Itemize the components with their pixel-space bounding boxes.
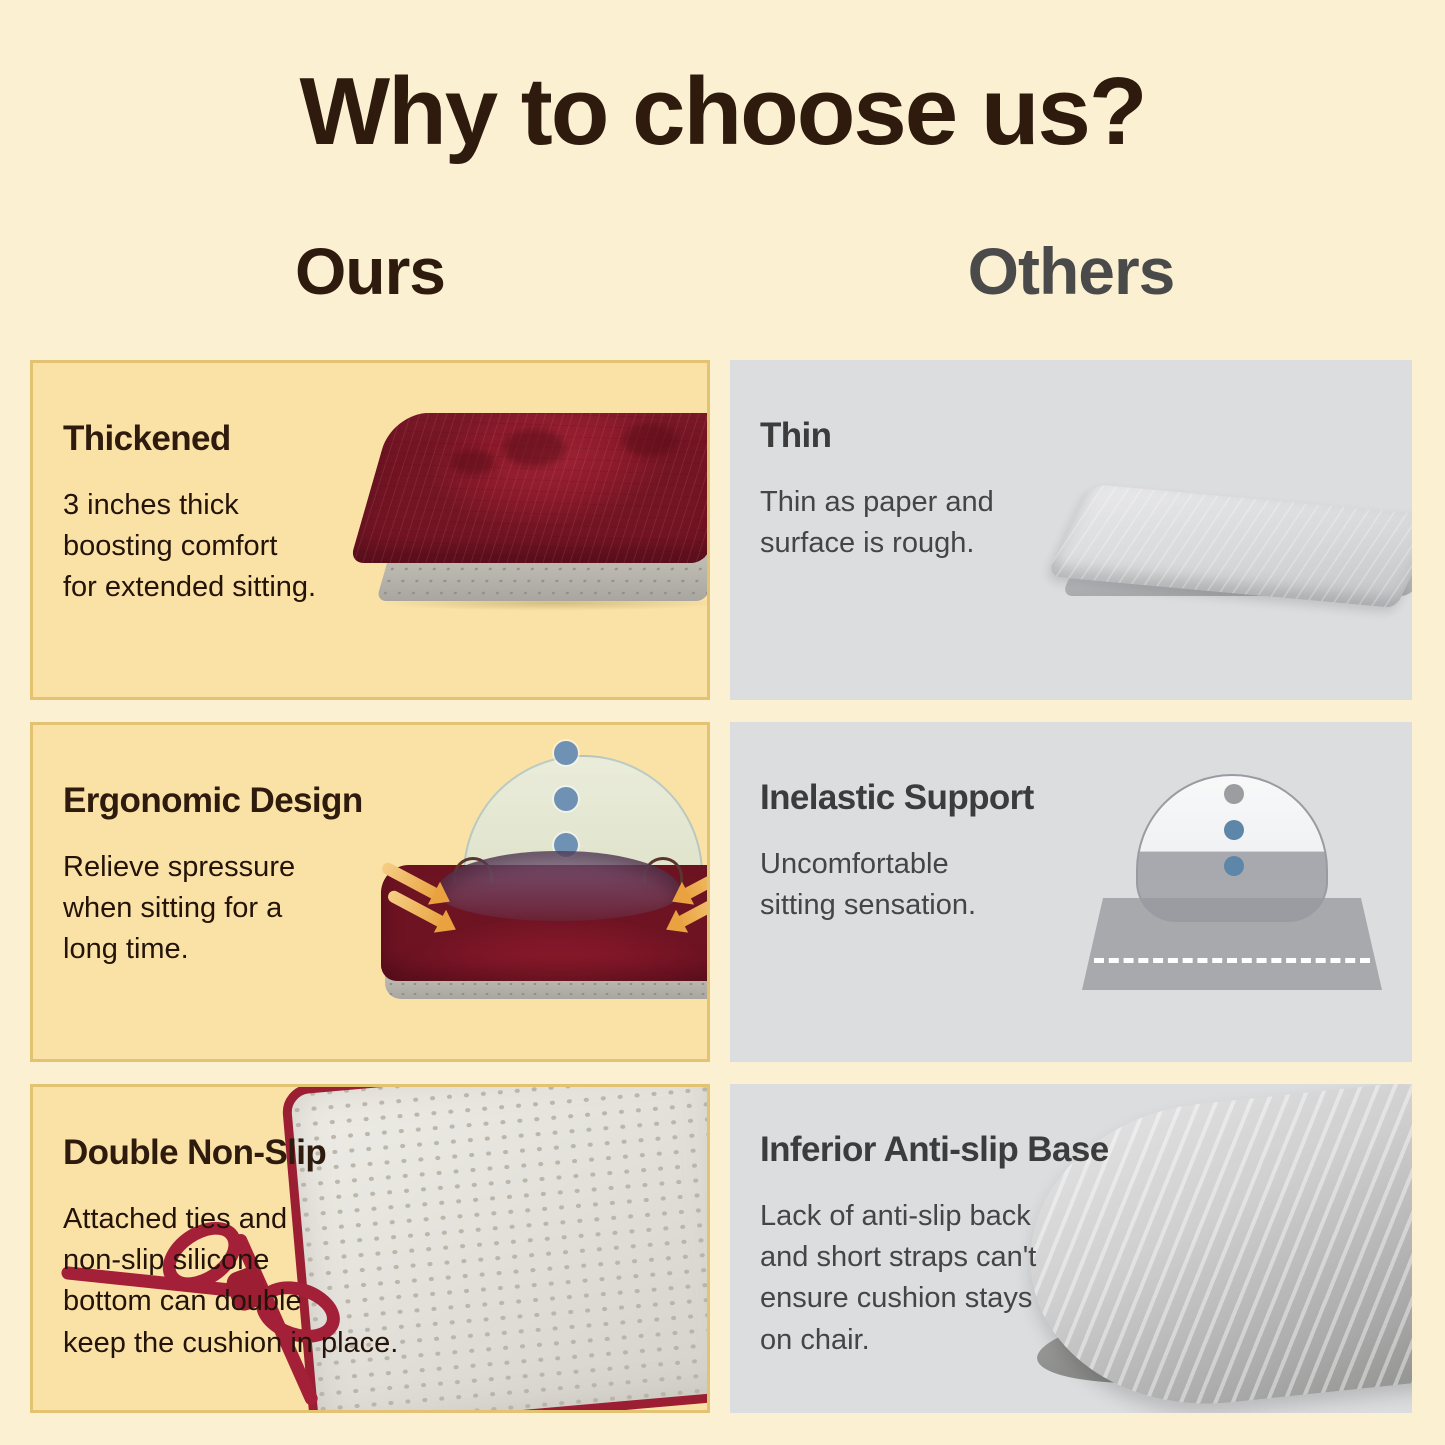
card-others-inferior-anti-slip-base: Inferior Anti-slip Base Lack of anti-sli… bbox=[730, 1084, 1412, 1413]
card-ours-ergonomic-design: Ergonomic Design Relieve spressure when … bbox=[30, 722, 710, 1062]
pressure-dot-icon bbox=[1224, 856, 1244, 876]
card-body: Attached ties and non-slip silicone bott… bbox=[63, 1199, 398, 1364]
column-header-others: Others bbox=[730, 235, 1412, 308]
card-title: Inelastic Support bbox=[760, 778, 1034, 818]
card-body: Lack of anti-slip back and short straps … bbox=[760, 1196, 1036, 1361]
card-title: Inferior Anti-slip Base bbox=[760, 1130, 1109, 1170]
pressure-arrow-icon bbox=[680, 861, 710, 902]
card-body: Relieve spressure when sitting for a lon… bbox=[63, 847, 295, 971]
pressure-arrow-icon bbox=[386, 889, 448, 930]
comparison-infographic: Why to choose us? Ours Others Thickened … bbox=[0, 0, 1445, 1445]
card-title: Double Non-Slip bbox=[63, 1133, 326, 1173]
card-others-inelastic-support: Inelastic Support Uncomfortable sitting … bbox=[730, 722, 1412, 1062]
card-others-thin: Thin Thin as paper and surface is rough. bbox=[730, 360, 1412, 700]
card-ours-double-non-slip: Double Non-Slip Attached ties and non-sl… bbox=[30, 1084, 710, 1413]
pressure-arrow-icon bbox=[674, 889, 710, 930]
card-title: Thin bbox=[760, 416, 831, 456]
pressure-arrow-icon bbox=[380, 861, 442, 902]
pressure-dot-icon bbox=[1224, 784, 1244, 804]
pressure-dot-icon bbox=[554, 741, 578, 765]
card-body: Uncomfortable sitting sensation. bbox=[760, 844, 976, 926]
card-body: 3 inches thick boosting comfort for exte… bbox=[63, 485, 316, 609]
card-ours-thickened: Thickened 3 inches thick boosting comfor… bbox=[30, 360, 710, 700]
column-header-ours: Ours bbox=[30, 235, 710, 308]
page-title: Why to choose us? bbox=[0, 62, 1445, 163]
card-body: Thin as paper and surface is rough. bbox=[760, 482, 994, 564]
card-title: Thickened bbox=[63, 419, 231, 459]
card-title: Ergonomic Design bbox=[63, 781, 363, 821]
pressure-dot-icon bbox=[554, 833, 578, 857]
pressure-dot-icon bbox=[1224, 820, 1244, 840]
pressure-dot-icon bbox=[554, 787, 578, 811]
